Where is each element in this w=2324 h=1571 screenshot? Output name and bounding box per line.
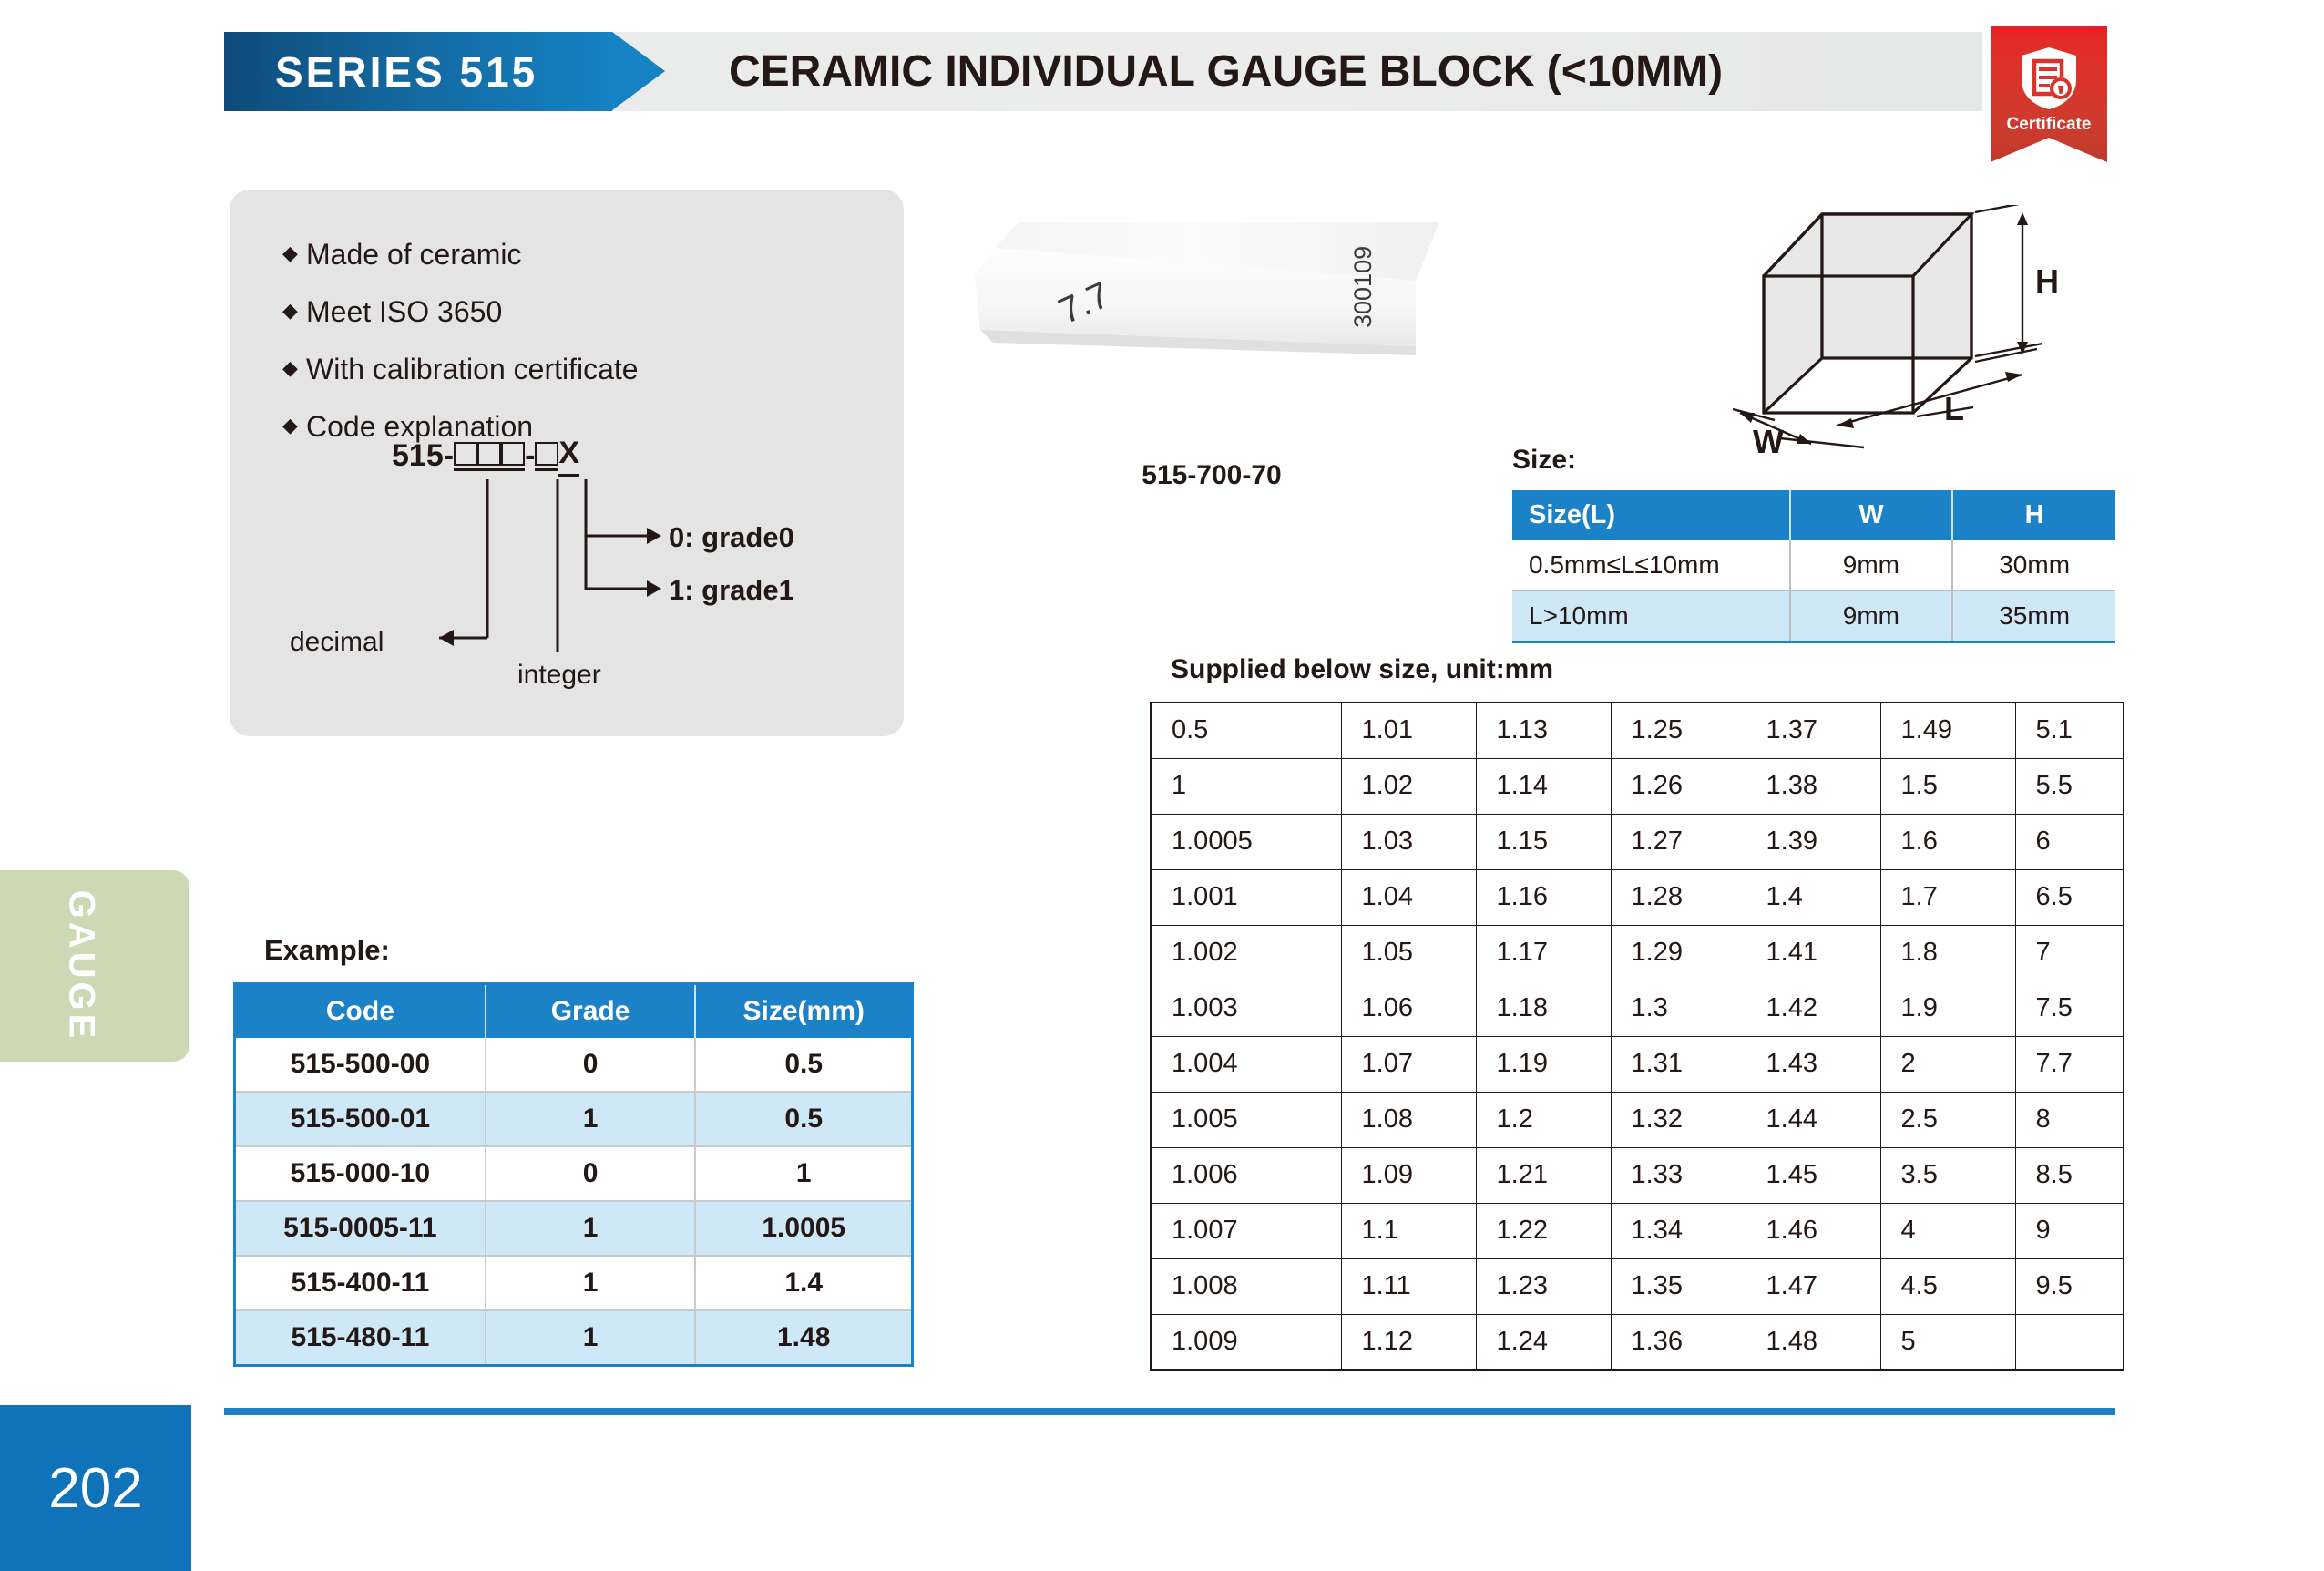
diamond-bullet-icon: ◆ — [282, 294, 306, 327]
cell-size-value: 3.5 — [1880, 1147, 2015, 1203]
cell-size-value: 1.36 — [1611, 1314, 1746, 1370]
cell-size-value — [2015, 1314, 2124, 1370]
cell-size-value: 1.31 — [1611, 1036, 1746, 1092]
series-label: SERIES 515 — [224, 47, 537, 97]
example-table-body: 515-500-0000.5515-500-0110.5515-000-1001… — [235, 1038, 913, 1366]
cell-size-value: 1.48 — [1746, 1314, 1880, 1370]
integer-label: integer — [517, 660, 601, 690]
table-row: 11.021.141.261.381.55.5 — [1151, 758, 2124, 814]
product-caption: 515-700-70 — [957, 460, 1467, 491]
table-row: 1.0011.041.161.281.41.76.5 — [1151, 869, 2124, 925]
cell-code: 515-500-00 — [235, 1038, 486, 1092]
column-header-code: Code — [235, 984, 486, 1039]
cell-size-value: 1.04 — [1341, 869, 1476, 925]
cell-size-value: 1.001 — [1151, 869, 1341, 925]
cell-size-value: 1.24 — [1476, 1314, 1611, 1370]
table-row: 515-400-1111.4 — [235, 1256, 913, 1310]
cell-size-value: 1.03 — [1341, 814, 1476, 869]
cell-size-l: 0.5mm≤L≤10mm — [1512, 540, 1790, 590]
cell-code: 515-480-11 — [235, 1310, 486, 1366]
cell-size: 0.5 — [695, 1092, 912, 1146]
cell-h: 30mm — [1952, 540, 2115, 590]
engraved-serial: 300109 — [1349, 246, 1377, 328]
cell-size-value: 1.005 — [1151, 1092, 1341, 1147]
page-number: 202 — [48, 1456, 142, 1521]
table-row: 1.0021.051.171.291.411.87 — [1151, 925, 2124, 981]
decimal-label: decimal — [290, 627, 384, 657]
cell-size-value: 7.5 — [2015, 981, 2124, 1036]
feature-label: With calibration certificate — [306, 352, 639, 386]
cell-size-value: 1.42 — [1746, 981, 1880, 1036]
table-row: 0.5mm≤L≤10mm 9mm 30mm — [1512, 540, 2115, 590]
table-row: 1.0031.061.181.31.421.97.5 — [1151, 981, 2124, 1036]
cell-size-value: 1.11 — [1341, 1258, 1476, 1314]
cell-size-value: 1.13 — [1476, 703, 1611, 758]
series-tag-arrow — [612, 32, 665, 110]
cell-size-value: 1.47 — [1746, 1258, 1880, 1314]
series-tag: SERIES 515 — [224, 32, 612, 111]
certificate-label: Certificate — [1991, 115, 2107, 135]
cell-size-value: 1.45 — [1746, 1147, 1880, 1203]
cell-size-value: 1.12 — [1341, 1314, 1476, 1370]
cell-size-value: 1.46 — [1746, 1203, 1880, 1258]
cell-grade: 0 — [486, 1146, 696, 1201]
cell-size-value: 5 — [1880, 1314, 2015, 1370]
product-photo: 7.7 300109 — [957, 210, 1467, 419]
cell-size: 1.0005 — [695, 1201, 912, 1256]
cell-grade: 1 — [486, 1201, 696, 1256]
cell-size: 1.48 — [695, 1310, 912, 1366]
cell-size-value: 1.7 — [1880, 869, 2015, 925]
gauge-block-photo-image: 7.7 300109 — [957, 210, 1467, 419]
supplied-section-label: Supplied below size, unit:mm — [1171, 654, 1553, 685]
cell-size-value: 1.008 — [1151, 1258, 1341, 1314]
grade0-label: 0: grade0 — [669, 521, 794, 553]
cell-size-value: 1.18 — [1476, 981, 1611, 1036]
cell-size-value: 1.21 — [1476, 1147, 1611, 1203]
cell-size-value: 1.01 — [1341, 703, 1476, 758]
cell-size-value: 1.06 — [1341, 981, 1476, 1036]
cell-code: 515-0005-11 — [235, 1201, 486, 1256]
table-row: 515-500-0110.5 — [235, 1092, 913, 1146]
cell-size-value: 1.33 — [1611, 1147, 1746, 1203]
cell-size-value: 1.3 — [1611, 981, 1746, 1036]
label-w: W — [1753, 423, 1784, 460]
cell-size-value: 2.5 — [1880, 1092, 2015, 1147]
label-h: H — [2035, 262, 2059, 300]
section-tab-gauge: GAUGE — [0, 870, 189, 1062]
cell-code: 515-500-01 — [235, 1092, 486, 1146]
size-section-label: Size: — [1512, 445, 1576, 476]
column-header-size-l: Size(L) — [1512, 490, 1790, 540]
cell-size-value: 1.27 — [1611, 814, 1746, 869]
size-table: Size(L) W H 0.5mm≤L≤10mm 9mm 30mm L>10mm… — [1512, 490, 2115, 643]
cell-size-value: 1.6 — [1880, 814, 2015, 869]
cell-size-value: 1.9 — [1880, 981, 2015, 1036]
cell-size-value: 1.003 — [1151, 981, 1341, 1036]
cell-size-value: 1.44 — [1746, 1092, 1880, 1147]
cell-size-value: 1.15 — [1476, 814, 1611, 869]
cell-size-value: 1.006 — [1151, 1147, 1341, 1203]
diamond-bullet-icon: ◆ — [282, 237, 306, 270]
cell-size-value: 1.5 — [1880, 758, 2015, 814]
table-row: 515-000-1001 — [235, 1146, 913, 1201]
cell-size-value: 1.4 — [1746, 869, 1880, 925]
list-item: ◆ With calibration certificate — [282, 352, 865, 386]
cell-size-value: 1.16 — [1476, 869, 1611, 925]
section-tab-label: GAUGE — [61, 890, 102, 1042]
cell-size-value: 7 — [2015, 925, 2124, 981]
cell-size-value: 4.5 — [1880, 1258, 2015, 1314]
cell-size-value: 1.22 — [1476, 1203, 1611, 1258]
grade1-label: 1: grade1 — [669, 574, 794, 606]
cell-size-value: 1.009 — [1151, 1314, 1341, 1370]
cell-size-value: 1.32 — [1611, 1092, 1746, 1147]
footer-rule — [224, 1408, 2115, 1415]
cell-size-value: 1.41 — [1746, 925, 1880, 981]
supplied-sizes-table: 0.51.011.131.251.371.495.111.021.141.261… — [1150, 702, 2124, 1371]
cell-grade: 1 — [486, 1256, 696, 1310]
cell-size: 1.4 — [695, 1256, 912, 1310]
features-panel: ◆ Made of ceramic ◆ Meet ISO 3650 ◆ With… — [230, 190, 904, 736]
cell-size-value: 1.004 — [1151, 1036, 1341, 1092]
cell-size-value: 1.25 — [1611, 703, 1746, 758]
cell-size-value: 6.5 — [2015, 869, 2124, 925]
cell-size-value: 1.49 — [1880, 703, 2015, 758]
table-row: 515-0005-1111.0005 — [235, 1201, 913, 1256]
cell-h: 35mm — [1952, 590, 2115, 642]
cell-size-l: L>10mm — [1512, 590, 1790, 642]
cell-grade: 1 — [486, 1310, 696, 1366]
example-section-label: Example: — [264, 934, 390, 967]
table-row: 1.0061.091.211.331.453.58.5 — [1151, 1147, 2124, 1203]
cell-size-value: 1.0005 — [1151, 814, 1341, 869]
table-row: 1.0051.081.21.321.442.58 — [1151, 1092, 2124, 1147]
cell-size-value: 1.2 — [1476, 1092, 1611, 1147]
feature-label: Meet ISO 3650 — [306, 294, 502, 329]
cell-size-value: 1.26 — [1611, 758, 1746, 814]
cell-size-value: 1.1 — [1341, 1203, 1476, 1258]
table-row: 1.0091.121.241.361.485 — [1151, 1314, 2124, 1370]
cell-size-value: 1.07 — [1341, 1036, 1476, 1092]
cell-size-value: 1.14 — [1476, 758, 1611, 814]
cell-size-value: 1.19 — [1476, 1036, 1611, 1092]
page-number-box: 202 — [0, 1405, 191, 1571]
cell-grade: 1 — [486, 1092, 696, 1146]
column-header-grade: Grade — [486, 984, 696, 1039]
column-header-size-mm: Size(mm) — [695, 984, 912, 1039]
table-row: 515-500-0000.5 — [235, 1038, 913, 1092]
cell-size-value: 1.09 — [1341, 1147, 1476, 1203]
cell-size-value: 1.05 — [1341, 925, 1476, 981]
feature-list: ◆ Made of ceramic ◆ Meet ISO 3650 ◆ With… — [282, 237, 865, 467]
table-row: 1.0081.111.231.351.474.59.5 — [1151, 1258, 2124, 1314]
table-row: 515-480-1111.48 — [235, 1310, 913, 1366]
table-row: 1.00051.031.151.271.391.66 — [1151, 814, 2124, 869]
example-table: Code Grade Size(mm) 515-500-0000.5515-50… — [233, 982, 914, 1367]
cell-size-value: 1.29 — [1611, 925, 1746, 981]
cell-size: 0.5 — [695, 1038, 912, 1092]
cell-size-value: 1.35 — [1611, 1258, 1746, 1314]
cell-size-value: 1.34 — [1611, 1203, 1746, 1258]
cell-size-value: 8 — [2015, 1092, 2124, 1147]
certificate-badge: Certificate — [1991, 26, 2107, 162]
cell-size-value: 1.38 — [1746, 758, 1880, 814]
list-item: ◆ Meet ISO 3650 — [282, 294, 865, 329]
table-row: 1.0071.11.221.341.4649 — [1151, 1203, 2124, 1258]
page-title: CERAMIC INDIVIDUAL GAUGE BLOCK (<10MM) — [729, 32, 1723, 111]
cell-w: 9mm — [1790, 590, 1953, 642]
column-header-h: H — [1952, 490, 2115, 540]
supplied-table-body: 0.51.011.131.251.371.495.111.021.141.261… — [1151, 703, 2124, 1370]
cell-size-value: 5.1 — [2015, 703, 2124, 758]
table-row: 1.0041.071.191.311.4327.7 — [1151, 1036, 2124, 1092]
cell-size-value: 8.5 — [2015, 1147, 2124, 1203]
cell-size-value: 7.7 — [2015, 1036, 2124, 1092]
label-l: L — [1944, 390, 1964, 427]
feature-label: Made of ceramic — [306, 237, 522, 272]
table-header-row: Code Grade Size(mm) — [235, 984, 913, 1039]
cell-code: 515-400-11 — [235, 1256, 486, 1310]
table-row: L>10mm 9mm 35mm — [1512, 590, 2115, 642]
certificate-shield-icon — [2018, 46, 2080, 111]
cell-size-value: 0.5 — [1151, 703, 1341, 758]
cell-size-value: 2 — [1880, 1036, 2015, 1092]
cell-size-value: 9 — [2015, 1203, 2124, 1258]
cell-size-value: 1.43 — [1746, 1036, 1880, 1092]
code-leader-lines: decimal integer 0: grade0 1: grade1 — [282, 436, 865, 709]
cell-size-value: 1.08 — [1341, 1092, 1476, 1147]
cell-code: 515-000-10 — [235, 1146, 486, 1201]
diamond-bullet-icon: ◆ — [282, 352, 306, 385]
cell-size-value: 1.007 — [1151, 1203, 1341, 1258]
list-item: ◆ Made of ceramic — [282, 237, 865, 272]
dimension-drawing: H L W — [1722, 205, 2104, 460]
cell-size-value: 1.39 — [1746, 814, 1880, 869]
cell-size-value: 5.5 — [2015, 758, 2124, 814]
cell-size-value: 6 — [2015, 814, 2124, 869]
cell-size-value: 9.5 — [2015, 1258, 2124, 1314]
cell-size-value: 1.002 — [1151, 925, 1341, 981]
cell-w: 9mm — [1790, 540, 1953, 590]
isometric-block-diagram: H L W — [1722, 205, 2104, 460]
cell-size-value: 1.8 — [1880, 925, 2015, 981]
table-row: 0.51.011.131.251.371.495.1 — [1151, 703, 2124, 758]
cell-size-value: 1.02 — [1341, 758, 1476, 814]
cell-size-value: 4 — [1880, 1203, 2015, 1258]
cell-size: 1 — [695, 1146, 912, 1201]
cell-size-value: 1.23 — [1476, 1258, 1611, 1314]
cell-size-value: 1 — [1151, 758, 1341, 814]
table-header-row: Size(L) W H — [1512, 490, 2115, 540]
page-header: SERIES 515 CERAMIC INDIVIDUAL GAUGE BLOC… — [0, 0, 2324, 146]
cell-size-value: 1.37 — [1746, 703, 1880, 758]
cell-size-value: 1.28 — [1611, 869, 1746, 925]
cell-grade: 0 — [486, 1038, 696, 1092]
code-explanation-diagram: 515- - X decimal integer 0: grade0 — [282, 436, 865, 709]
cell-size-value: 1.17 — [1476, 925, 1611, 981]
column-header-w: W — [1790, 490, 1953, 540]
